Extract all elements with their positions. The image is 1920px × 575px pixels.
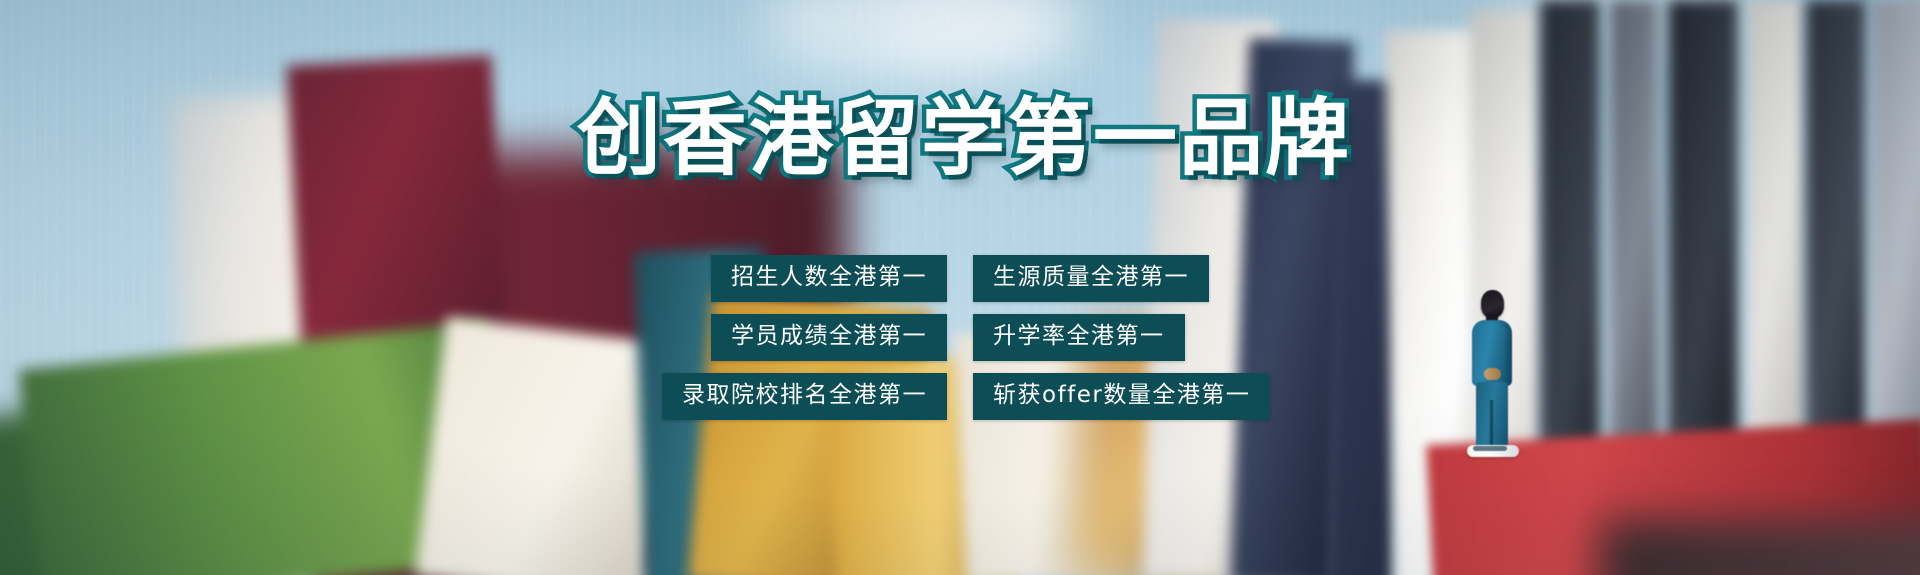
promo-banner: 创香港留学第一品牌 招生人数全港第一 生源质量全港第一 学员成绩全港第一 升学率…: [0, 0, 1920, 575]
feature-tag[interactable]: 学员成绩全港第一: [711, 314, 947, 361]
feature-tag-row: 录取院校排名全港第一 斩获offer数量全港第一: [662, 373, 1258, 420]
figurine-hands: [1484, 368, 1501, 380]
feature-tag-row: 学员成绩全港第一 升学率全港第一: [662, 314, 1258, 361]
feature-tag[interactable]: 升学率全港第一: [973, 314, 1185, 361]
feature-tag[interactable]: 生源质量全港第一: [973, 255, 1209, 302]
figurine-shoe-detail: [1473, 446, 1507, 451]
feature-tag-row: 招生人数全港第一 生源质量全港第一: [662, 255, 1258, 302]
figurine-person: [1459, 290, 1525, 458]
banner-headline: 创香港留学第一品牌: [0, 96, 1920, 180]
banner-content: 创香港留学第一品牌 招生人数全港第一 生源质量全港第一 学员成绩全港第一 升学率…: [0, 0, 1920, 575]
feature-tag[interactable]: 招生人数全港第一: [711, 255, 947, 302]
feature-tag-list: 招生人数全港第一 生源质量全港第一 学员成绩全港第一 升学率全港第一 录取院校排…: [0, 255, 1920, 420]
feature-tag[interactable]: 斩获offer数量全港第一: [973, 373, 1270, 420]
feature-tag[interactable]: 录取院校排名全港第一: [662, 373, 947, 420]
figurine-leg-gap: [1490, 400, 1493, 448]
